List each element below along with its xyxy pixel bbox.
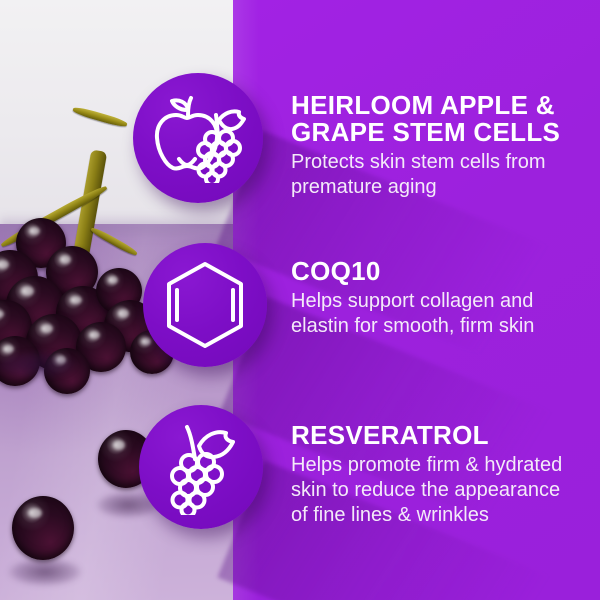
- feature-text-heirloom-apple-grape-stem-cells: HEIRLOOM APPLE & GRAPE STEM CELLS Protec…: [291, 92, 581, 200]
- feature-badge-heirloom-apple-grape-stem-cells[interactable]: [133, 73, 263, 203]
- apple-and-grapes-icon: [146, 93, 250, 183]
- feature-title: COQ10: [291, 258, 581, 285]
- feature-title: HEIRLOOM APPLE & GRAPE STEM CELLS: [291, 92, 581, 146]
- feature-badge-resveratrol[interactable]: [139, 405, 263, 529]
- berry-contact-shadow: [8, 558, 82, 586]
- feature-badge-coq10[interactable]: [143, 243, 267, 367]
- feature-title: RESVERATROL: [291, 422, 581, 449]
- loose-grape-berry: [12, 496, 74, 560]
- feature-text-resveratrol: RESVERATROL Helps promote firm & hydrate…: [291, 422, 581, 528]
- feature-description: Helps support collagen and elastin for s…: [291, 289, 581, 339]
- feature-text-coq10: COQ10 Helps support collagen and elastin…: [291, 258, 581, 339]
- grapes-icon: [155, 419, 247, 515]
- ingredient-benefits-infographic: HEIRLOOM APPLE & GRAPE STEM CELLS Protec…: [0, 0, 600, 600]
- hexagon-molecule-icon: [162, 259, 248, 351]
- feature-description: Protects skin stem cells from premature …: [291, 150, 581, 200]
- feature-description: Helps promote firm & hydrated skin to re…: [291, 453, 581, 528]
